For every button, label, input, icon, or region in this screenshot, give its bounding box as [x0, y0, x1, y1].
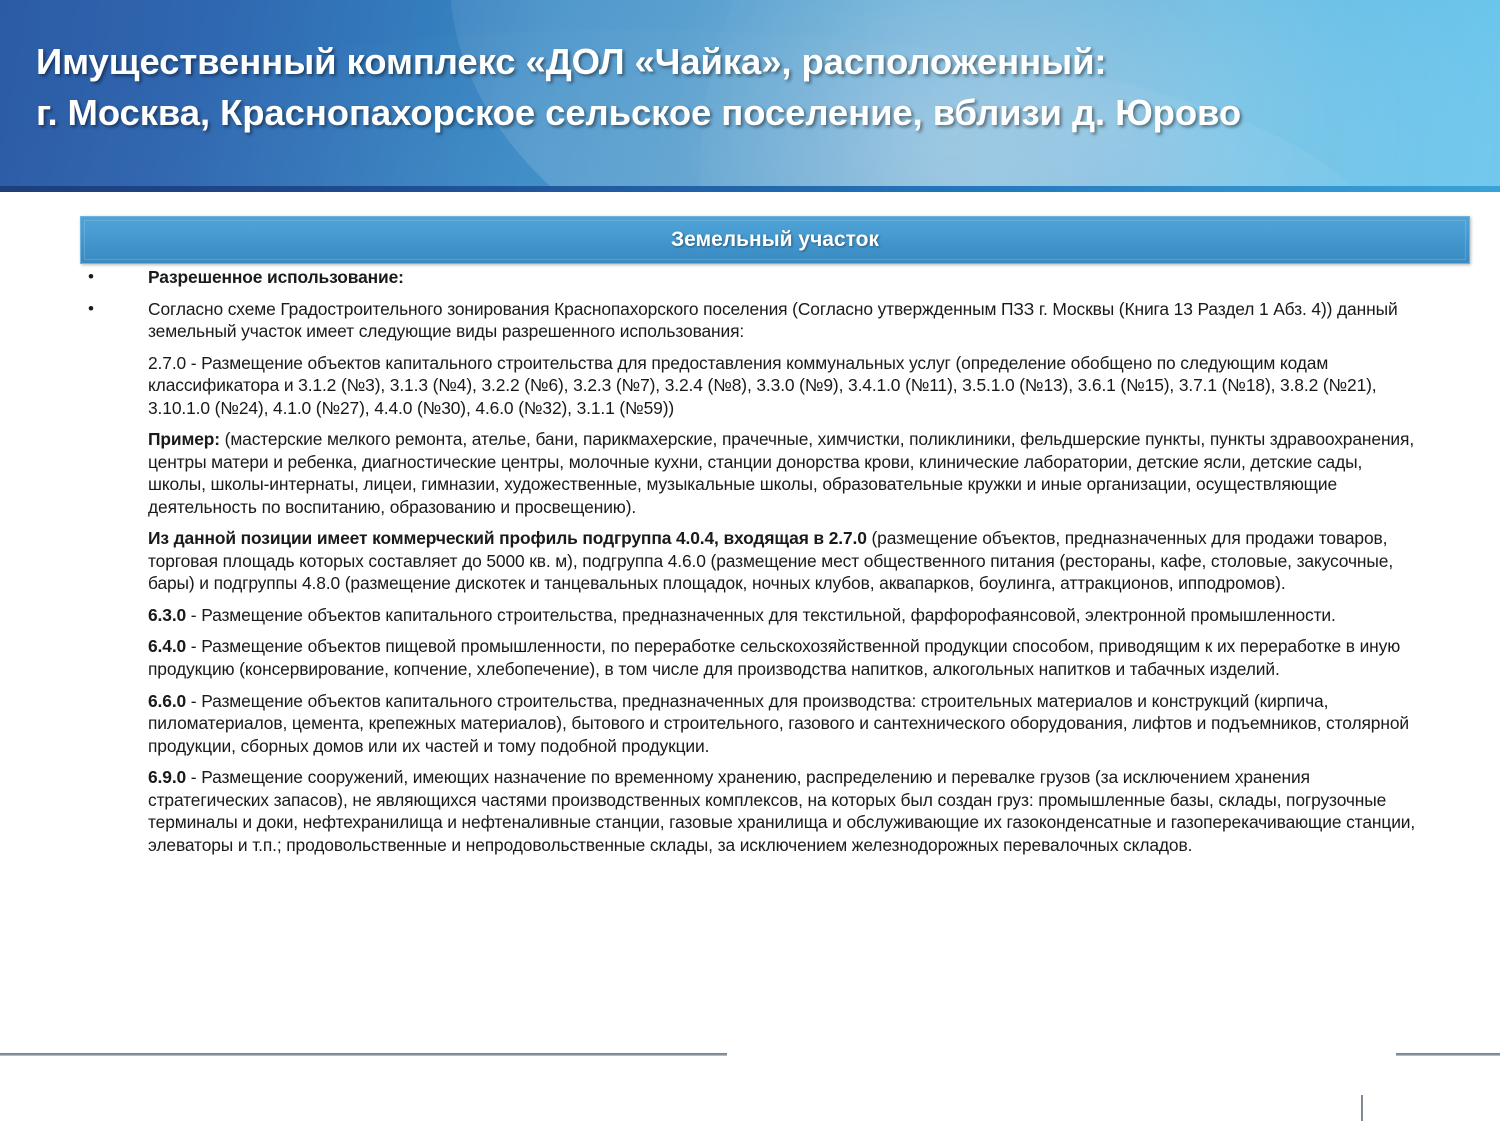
bullet-icon: • [88, 266, 94, 288]
body-text: - Размещение объектов капитального строи… [186, 605, 1336, 625]
body-text-bold: 6.9.0 [148, 767, 186, 787]
body-text: 2.7.0 - Размещение объектов капитального… [148, 353, 1377, 418]
body-text-bold: 6.4.0 [148, 636, 186, 656]
body-paragraph: 6.9.0 - Размещение сооружений, имеющих н… [0, 766, 1500, 856]
footer-divider-right [1396, 1053, 1500, 1056]
body-paragraph: •Разрешенное использование: [0, 266, 1500, 289]
body-paragraph: 6.3.0 - Размещение объектов капитального… [0, 604, 1500, 627]
section-header-title: Земельный участок [80, 216, 1470, 264]
slide-title-banner: Имущественный комплекс «ДОЛ «Чайка», рас… [0, 0, 1500, 186]
body-text-bold: Из данной позиции имеет коммерческий про… [148, 528, 867, 548]
footer-tick-mark [1361, 1095, 1363, 1121]
body-text: - Размещение объектов капитального строи… [148, 691, 1409, 756]
body-paragraph: Из данной позиции имеет коммерческий про… [0, 527, 1500, 595]
body-text: - Размещение сооружений, имеющих назначе… [148, 767, 1415, 855]
body-paragraph: Пример: (мастерские мелкого ремонта, ате… [0, 428, 1500, 518]
body-text-bold: Пример: [148, 429, 220, 449]
section-header-bar: Земельный участок [80, 216, 1470, 264]
page-title: Имущественный комплекс «ДОЛ «Чайка», рас… [36, 36, 1476, 138]
body-text-bold: 6.3.0 [148, 605, 186, 625]
body-text: Согласно схеме Градостроительного зониро… [148, 299, 1398, 342]
body-paragraph: 2.7.0 - Размещение объектов капитального… [0, 352, 1500, 420]
body-text-bold: 6.6.0 [148, 691, 186, 711]
slide-body-content: •Разрешенное использование:•Согласно схе… [0, 266, 1500, 865]
footer-divider-left [0, 1053, 727, 1056]
bullet-icon: • [88, 298, 94, 320]
body-paragraph: •Согласно схеме Градостроительного зонир… [0, 298, 1500, 343]
banner-underline-divider [0, 186, 1500, 192]
body-text-bold: Разрешенное использование: [148, 267, 404, 287]
body-text: - Размещение объектов пищевой промышленн… [148, 636, 1400, 679]
body-text: (мастерские мелкого ремонта, ателье, бан… [148, 429, 1414, 517]
body-paragraph: 6.4.0 - Размещение объектов пищевой пром… [0, 635, 1500, 680]
body-paragraph: 6.6.0 - Размещение объектов капитального… [0, 690, 1500, 758]
